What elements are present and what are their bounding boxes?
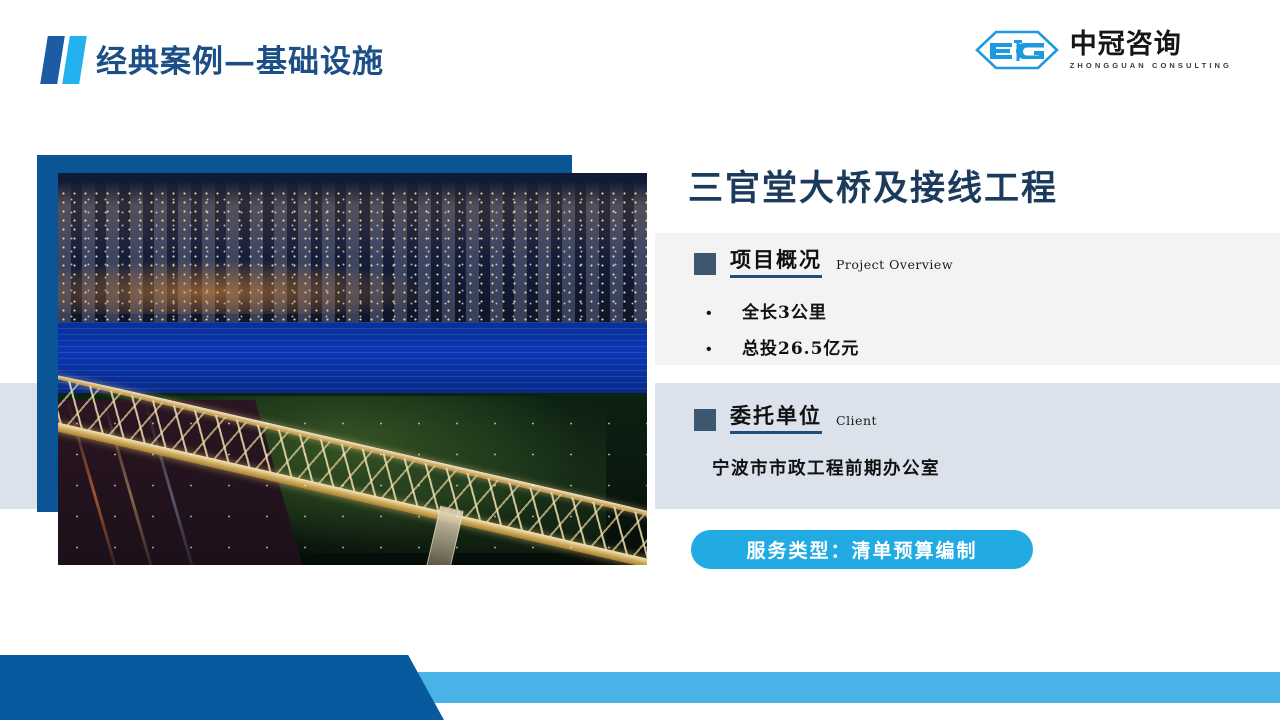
- slide-root: 经典案例—基础设施 中冠咨询 ZHONGGUAN CONSULTING: [0, 0, 1280, 720]
- footer-light-band: [418, 672, 1280, 703]
- brand-text: 中冠咨询 ZHONGGUAN CONSULTING: [1070, 31, 1232, 70]
- section-title-en: Client: [836, 413, 877, 434]
- photo-night-sparkles: [58, 408, 647, 565]
- section-title-cn: 委托单位: [730, 404, 822, 434]
- bullet-dot-icon: •: [700, 305, 742, 323]
- photo-warm-glow: [58, 259, 441, 314]
- zg-hexagon-icon: [974, 28, 1060, 72]
- client-name-value: 宁波市市政工程前期办公室: [712, 455, 940, 480]
- section-title-en: Project Overview: [836, 257, 953, 278]
- client-band: [655, 383, 1280, 509]
- service-type-label: 服务类型：清单预算编制: [746, 536, 977, 563]
- footer-dark-shape: [0, 655, 444, 720]
- list-item-label: 全长3公里: [742, 298, 827, 323]
- section-header-client: 委托单位 Client: [694, 404, 877, 434]
- bullet-dot-icon: •: [700, 341, 742, 359]
- overview-bullet-list: • 全长3公里 • 总投26.5亿元: [700, 298, 1220, 370]
- header-accent-bar-light: [62, 36, 87, 84]
- list-item: • 全长3公里: [700, 298, 1220, 323]
- project-photo: [58, 173, 647, 565]
- list-item: • 总投26.5亿元: [700, 334, 1220, 359]
- section-header-overview: 项目概况 Project Overview: [694, 248, 953, 278]
- header-accent-icon: [42, 36, 92, 84]
- section-marker-icon: [694, 253, 716, 275]
- section-marker-icon: [694, 409, 716, 431]
- section-title-cn: 项目概况: [730, 248, 822, 278]
- brand-name-en: ZHONGGUAN CONSULTING: [1070, 62, 1232, 70]
- brand-name-cn: 中冠咨询: [1070, 31, 1232, 58]
- brand-logo: 中冠咨询 ZHONGGUAN CONSULTING: [974, 26, 1232, 74]
- list-item-label: 总投26.5亿元: [742, 334, 859, 359]
- service-type-badge: 服务类型：清单预算编制: [691, 530, 1033, 569]
- page-title: 经典案例—基础设施: [96, 36, 384, 81]
- project-title: 三官堂大桥及接线工程: [688, 160, 1058, 211]
- header-accent-bar-dark: [40, 36, 65, 84]
